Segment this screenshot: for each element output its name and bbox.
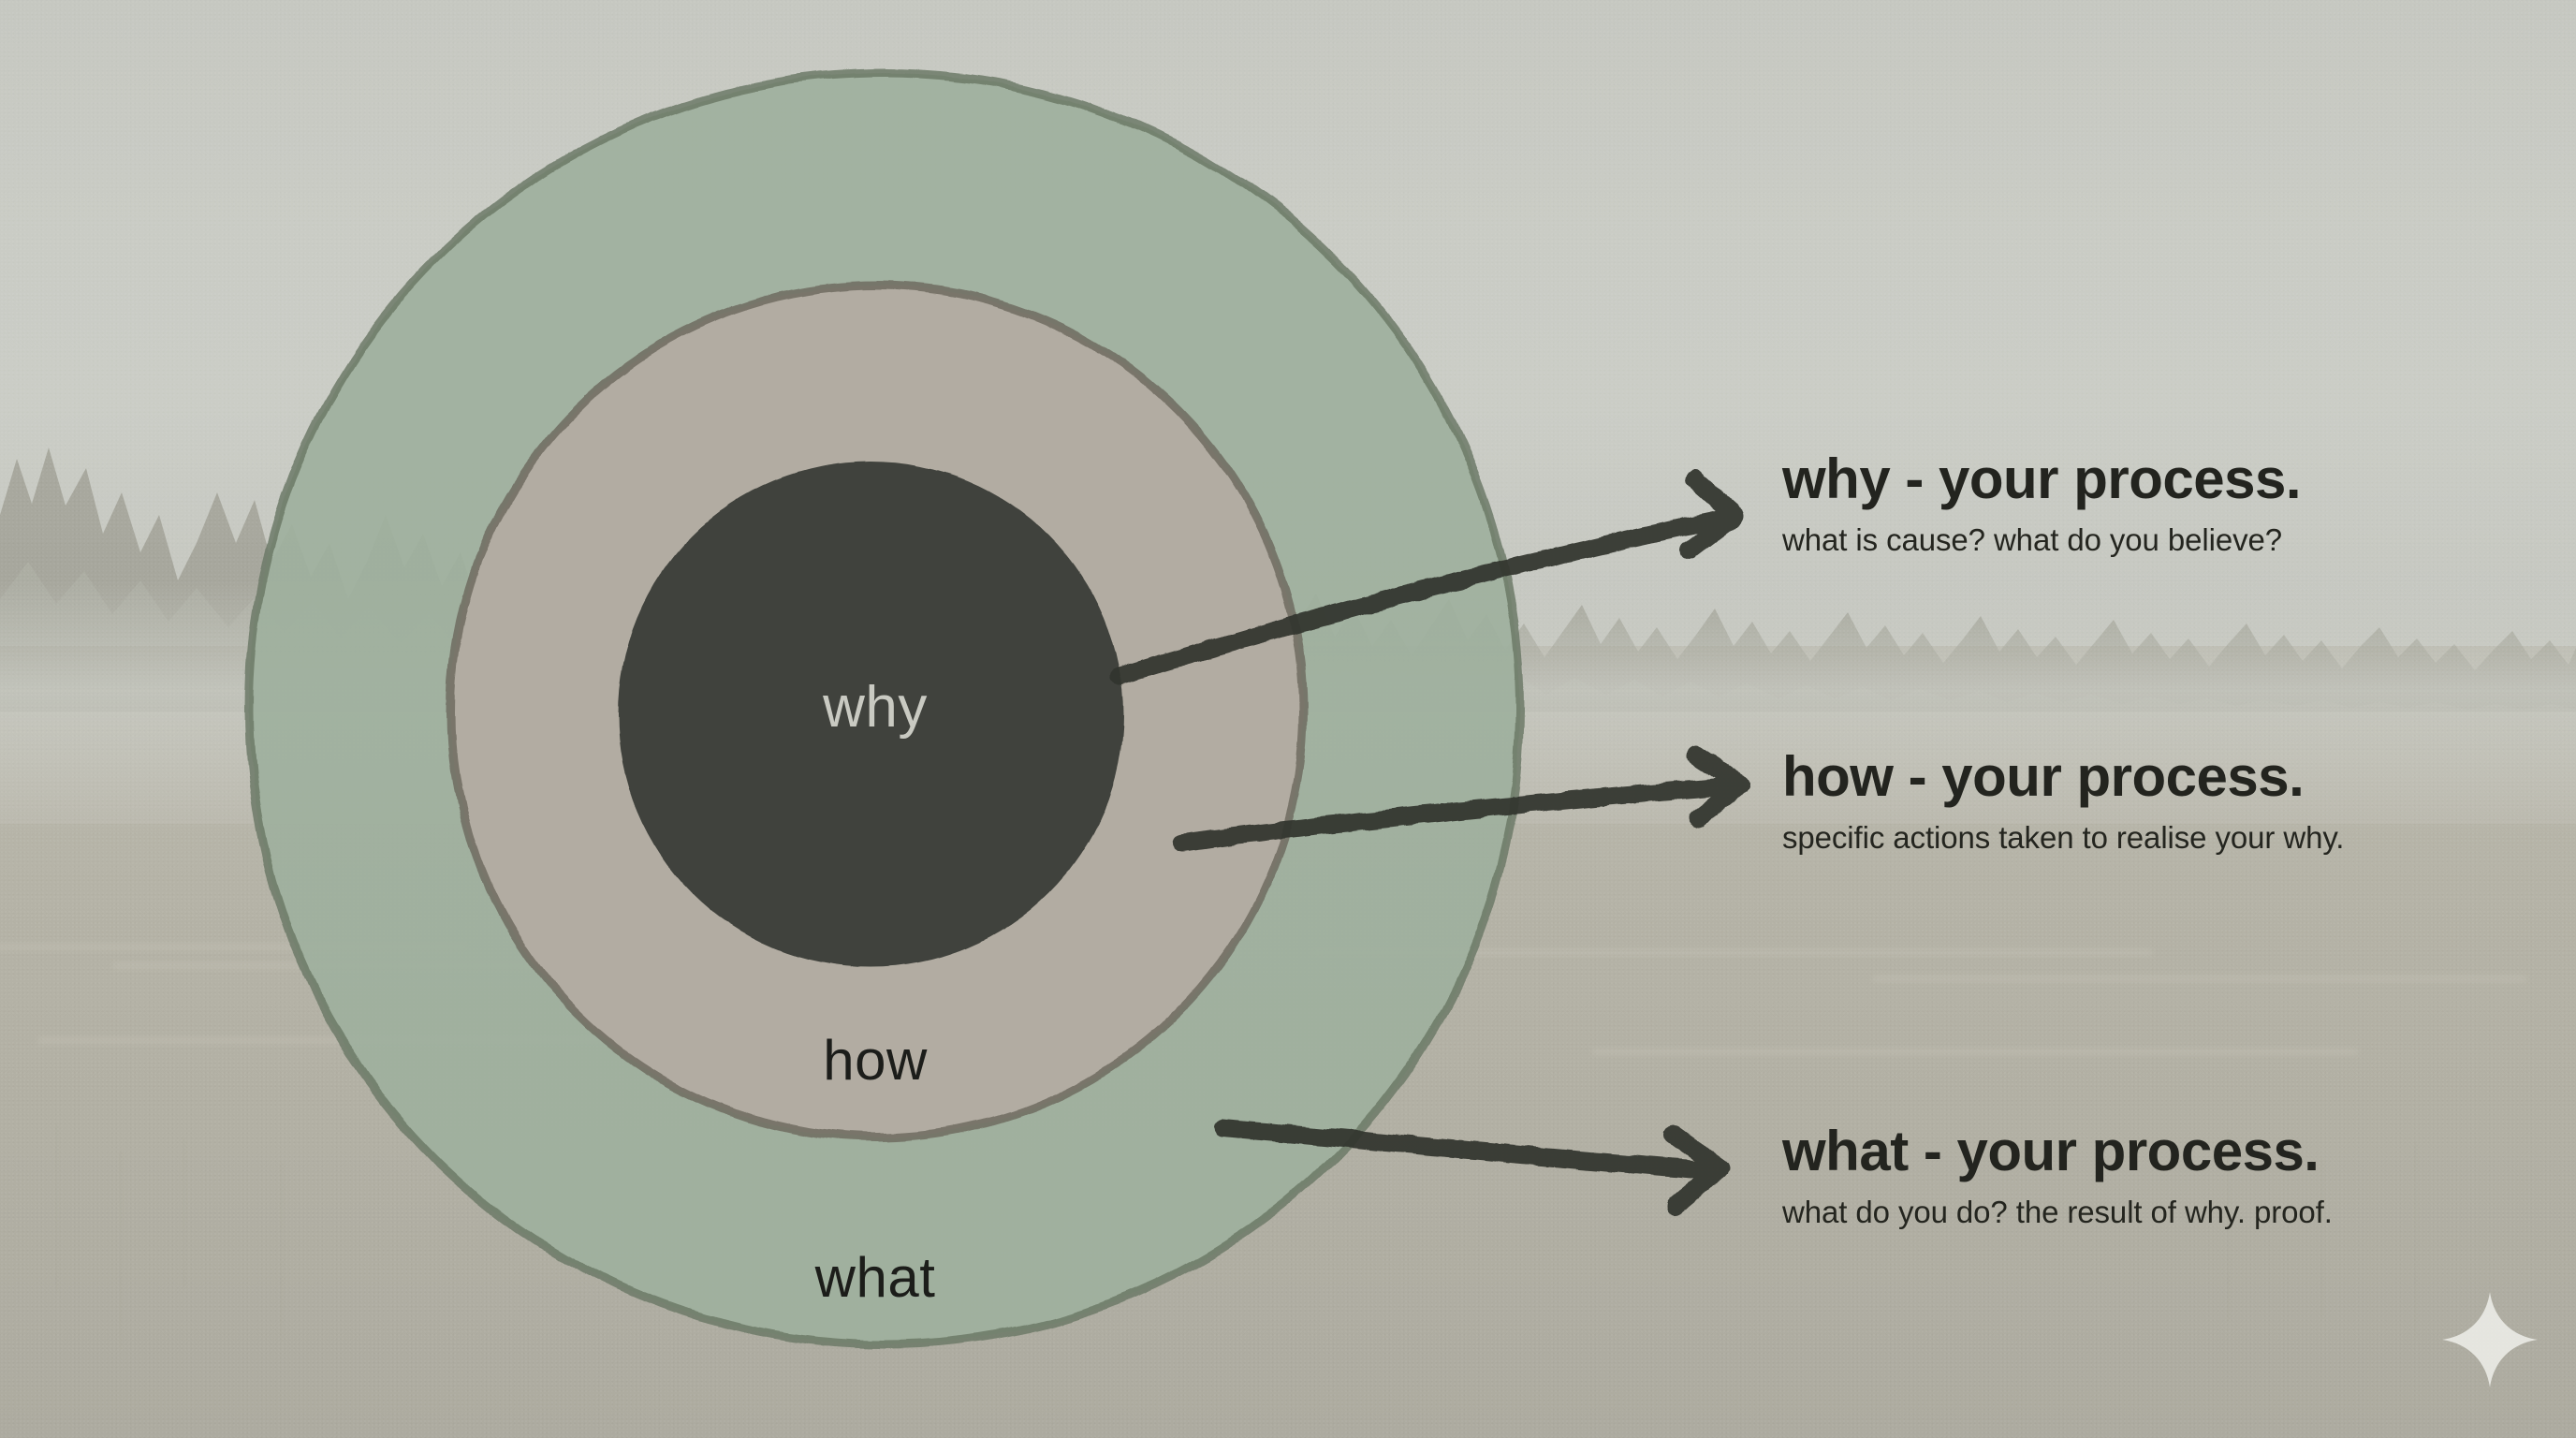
ring-label-how: how xyxy=(0,1028,1750,1093)
callout-what-subtext: what do you do? the result of why. proof… xyxy=(1782,1195,2333,1230)
callout-what-headline: what - your process. xyxy=(1782,1123,2333,1180)
sparkle-icon xyxy=(2438,1288,2541,1391)
arrow-how-icon xyxy=(1181,755,1741,843)
ring-label-why: why xyxy=(0,674,1750,741)
slide-canvas: why how what why - your process. what is… xyxy=(0,0,2576,1438)
callout-how-headline: how - your process. xyxy=(1782,749,2344,805)
callout-how: how - your process. specific actions tak… xyxy=(1782,749,2344,856)
callout-why: why - your process. what is cause? what … xyxy=(1782,451,2301,558)
arrow-what-icon xyxy=(1222,1128,1720,1206)
callout-why-headline: why - your process. xyxy=(1782,451,2301,507)
callout-why-subtext: what is cause? what do you believe? xyxy=(1782,522,2301,558)
callout-what: what - your process. what do you do? the… xyxy=(1782,1123,2333,1230)
arrow-why-icon xyxy=(1120,479,1735,676)
ring-label-what: what xyxy=(0,1245,1750,1310)
callout-how-subtext: specific actions taken to realise your w… xyxy=(1782,820,2344,856)
